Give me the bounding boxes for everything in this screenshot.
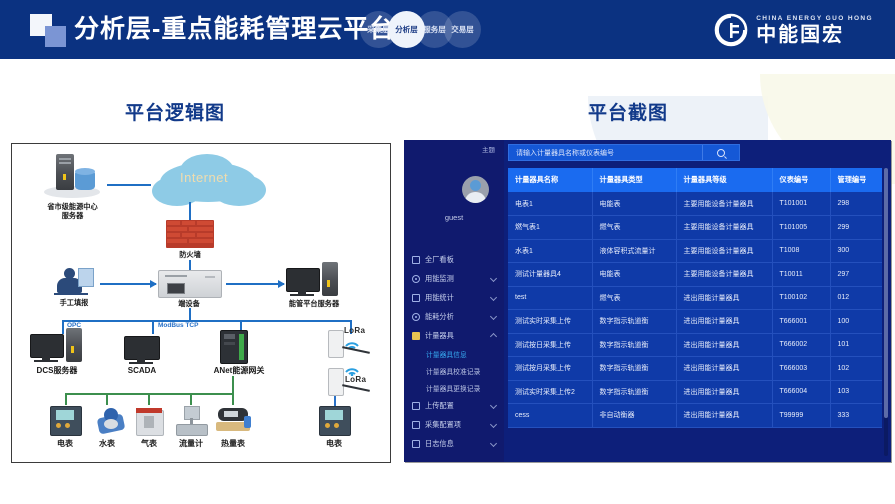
table-cell: 进出用能计量器具 [676, 404, 772, 428]
layer-chip-label: 交易层 [451, 24, 474, 35]
sidebar-item-label: 计量器具 [425, 331, 454, 341]
square-blue [45, 26, 66, 47]
table-row[interactable]: 测试实时采集上传2数字指示轨道衡进出用能计量器具T666004103 [508, 380, 882, 404]
username-label: guest [404, 213, 504, 222]
analysis-icon [412, 313, 420, 321]
company-logo: CHINA ENERGY GUO HONG 中能国宏 [713, 11, 873, 49]
green-drop-1 [65, 393, 67, 405]
meter-label-4: 热量表 [216, 439, 250, 448]
table-row[interactable]: 测试按月采集上传数字指示轨道衡进出用能计量器具T666003102 [508, 357, 882, 381]
table-cell: 测试按月采集上传 [508, 357, 592, 381]
manual-entry-label: 手工填报 [52, 298, 96, 307]
green-drop-2 [106, 393, 108, 405]
table-cell: 电表1 [508, 192, 592, 216]
table-cell: 数字指示轨道衡 [592, 310, 676, 334]
meter-label-lora: 电表 [317, 439, 351, 448]
arrow-manual-to-edge [100, 283, 156, 285]
section-title-right: 平台截图 [588, 98, 668, 125]
column-header-manage-no[interactable]: 管理编号 [830, 168, 882, 192]
table-header-row: 计量器具名称 计量器具类型 计量器具等级 仪表编号 管理编号 [508, 168, 882, 192]
sidebar-subitem-replacement-records[interactable]: 计量器具更换记录 [404, 379, 504, 396]
table-cell: 主要用能设备计量器具 [676, 263, 772, 287]
theme-switch[interactable]: 主题 [482, 144, 495, 154]
chevron-down-icon [490, 440, 497, 447]
layer-chip-trade[interactable]: 交易层 [444, 11, 481, 48]
table-cell: 测试实时采集上传2 [508, 380, 592, 404]
header-logo-squares [30, 14, 70, 48]
table-cell: T10011 [772, 263, 830, 287]
sidebar-item-label: 用能监测 [425, 274, 454, 284]
statistics-icon [412, 294, 420, 302]
meter-label-2: 气表 [132, 439, 166, 448]
metering-devices-table: 计量器具名称 计量器具类型 计量器具等级 仪表编号 管理编号 电表1电能表主要用… [508, 168, 882, 428]
upload-config-icon [412, 402, 420, 410]
table-cell: 100 [830, 310, 882, 334]
table-cell: T666002 [772, 333, 830, 357]
column-header-grade[interactable]: 计量器具等级 [676, 168, 772, 192]
green-drop-5 [232, 393, 234, 405]
monitor-icon [412, 275, 420, 283]
scrollbar-thumb[interactable] [884, 168, 888, 418]
chevron-down-icon [490, 294, 497, 301]
chevron-up-icon [490, 333, 497, 340]
table-cell: 297 [830, 263, 882, 287]
table-cell: test [508, 286, 592, 310]
table-cell: 非自动衡器 [592, 404, 676, 428]
sidebar-item-label: 上传配置 [425, 401, 454, 411]
search-icon [717, 149, 725, 157]
bus-horizontal [62, 320, 352, 322]
table-row[interactable]: 测试计量器具4电能表主要用能设备计量器具T10011297 [508, 263, 882, 287]
sidebar-subitem-label: 计量器具信息 [426, 349, 467, 359]
g-circle-logo-icon [713, 12, 749, 48]
platform-server-label: 能管平台服务器 [278, 299, 350, 308]
green-drop-anet [232, 376, 234, 394]
chevron-down-icon [490, 275, 497, 282]
sidebar-item-log[interactable]: 日志信息 [404, 434, 504, 453]
meter-label-0: 电表 [48, 439, 82, 448]
dcs-label: DCS服务器 [25, 366, 89, 375]
edge-device-icon [158, 270, 222, 298]
sidebar-item-label: 用能统计 [425, 293, 454, 303]
sidebar-item-dashboard[interactable]: 全厂看板 [404, 250, 504, 269]
anet-gateway-icon [220, 330, 248, 364]
meter-label-1: 水表 [90, 439, 124, 448]
table-cell: 燃气表1 [508, 216, 592, 240]
dashboard-icon [412, 256, 420, 264]
table-row[interactable]: 燃气表1燃气表主要用能设备计量器具T101005299 [508, 216, 882, 240]
sidebar-item-label: 日志信息 [425, 439, 454, 449]
table-cell: 测试计量器具4 [508, 263, 592, 287]
table-cell: 主要用能设备计量器具 [676, 192, 772, 216]
sidebar-item-label: 采集配置项 [425, 420, 461, 430]
sidebar-item-upload-config[interactable]: 上传配置 [404, 396, 504, 415]
column-header-type[interactable]: 计量器具类型 [592, 168, 676, 192]
search-input[interactable]: 请输入计量器具名称或仪表编号 [509, 148, 614, 158]
avatar[interactable] [462, 176, 489, 203]
search-bar[interactable]: 请输入计量器具名称或仪表编号 [508, 144, 740, 161]
layer-chip-label: 采集层 [367, 24, 390, 35]
logo-english-text: CHINA ENERGY GUO HONG [756, 15, 873, 22]
platform-screenshot: 主题 guest 全厂看板 用能监测 用能统计 能耗分析 [404, 140, 891, 462]
arrow-edge-to-platform [226, 283, 284, 285]
sidebar-item-collect-config[interactable]: 采集配置项 [404, 415, 504, 434]
table-cell: 数字指示轨道衡 [592, 357, 676, 381]
table-cell: cess [508, 404, 592, 428]
table-cell: 进出用能计量器具 [676, 286, 772, 310]
table-cell: 测试按日采集上传 [508, 333, 592, 357]
table-row[interactable]: cess非自动衡器进出用能计量器具T99999333 [508, 404, 882, 428]
table-cell: 333 [830, 404, 882, 428]
log-icon [412, 440, 420, 448]
table-cell: 测试实时采集上传 [508, 310, 592, 334]
green-drop-3 [148, 393, 150, 405]
table-cell: T666003 [772, 357, 830, 381]
internet-label: Internet [180, 170, 228, 185]
logo-chinese-text: 中能国宏 [756, 24, 873, 46]
column-header-name[interactable]: 计量器具名称 [508, 168, 592, 192]
table-cell: 电能表 [592, 263, 676, 287]
meter-folder-icon [412, 332, 420, 340]
sidebar-item-metering-devices[interactable]: 计量器具 [404, 326, 504, 345]
table-cell: 300 [830, 239, 882, 263]
table-cell: T101005 [772, 216, 830, 240]
table-row[interactable]: 测试按日采集上传数字指示轨道衡进出用能计量器具T666002101 [508, 333, 882, 357]
table-row[interactable]: 水表1液体容积式流量计主要用能设备计量器具T1008300 [508, 239, 882, 263]
chevron-down-icon [490, 421, 497, 428]
bus-drop-scada [152, 320, 154, 334]
table-cell: 数字指示轨道衡 [592, 333, 676, 357]
table-cell: 进出用能计量器具 [676, 357, 772, 381]
link-internet-firewall [189, 202, 191, 220]
sidebar-item-monitor[interactable]: 用能监测 [404, 269, 504, 288]
table-cell: T666001 [772, 310, 830, 334]
column-header-instrument-no[interactable]: 仪表编号 [772, 168, 830, 192]
sidebar-subitem-label: 计量器具更换记录 [426, 383, 480, 393]
avatar-head [470, 180, 481, 191]
bus-drop-dcs [62, 320, 64, 334]
table-cell: 299 [830, 216, 882, 240]
edge-device-label: 端设备 [164, 299, 214, 308]
table-cell: 进出用能计量器具 [676, 380, 772, 404]
table-cell: 电能表 [592, 192, 676, 216]
platform-logic-diagram: Internet 省市级能源中心 服务器 防火墙 [11, 143, 391, 463]
table-cell: T1008 [772, 239, 830, 263]
sidebar-item-label: 全厂看板 [425, 255, 454, 265]
table-cell: 主要用能设备计量器具 [676, 216, 772, 240]
table-cell: T101001 [772, 192, 830, 216]
page-title: 分析层-重点能耗管理云平台 [74, 11, 395, 47]
avatar-body [465, 192, 486, 203]
sidebar-item-analysis[interactable]: 能耗分析 [404, 307, 504, 326]
table-cell: 102 [830, 357, 882, 381]
table-row[interactable]: test燃气表进出用能计量器具T100102012 [508, 286, 882, 310]
table-cell: 进出用能计量器具 [676, 333, 772, 357]
sidebar-menu: 全厂看板 用能监测 用能统计 能耗分析 计量器具 [404, 250, 504, 453]
sidebar-item-statistics[interactable]: 用能统计 [404, 288, 504, 307]
table-cell: 主要用能设备计量器具 [676, 239, 772, 263]
collect-config-icon [412, 421, 420, 429]
table-cell: 进出用能计量器具 [676, 310, 772, 334]
firewall-label: 防火墙 [166, 250, 214, 259]
table-scrollbar[interactable] [884, 168, 888, 456]
table-cell: 燃气表 [592, 286, 676, 310]
layer-chip-label: 服务层 [423, 24, 446, 35]
anet-label: ANet能源网关 [208, 366, 270, 375]
table-cell: 101 [830, 333, 882, 357]
table-body: 电表1电能表主要用能设备计量器具T101001298燃气表1燃气表主要用能设备计… [508, 192, 882, 427]
chevron-down-icon [490, 402, 497, 409]
table-row[interactable]: 电表1电能表主要用能设备计量器具T101001298 [508, 192, 882, 216]
layer-chip-analysis[interactable]: 分析层 [388, 11, 425, 48]
sidebar-subitem-calibration-records[interactable]: 计量器具校准记录 [404, 362, 504, 379]
sidebar-subitem-label: 计量器具校准记录 [426, 366, 480, 376]
lora-label-top: LoRa [344, 326, 365, 335]
app-sidebar: 主题 guest 全厂看板 用能监测 用能统计 能耗分析 [404, 140, 504, 462]
table-row[interactable]: 测试实时采集上传数字指示轨道衡进出用能计量器具T666001100 [508, 310, 882, 334]
sidebar-subitem-device-info[interactable]: 计量器具信息 [404, 345, 504, 362]
table-cell: T666004 [772, 380, 830, 404]
table-cell: 012 [830, 286, 882, 310]
table-cell: 298 [830, 192, 882, 216]
protocol-label-modbus: ModBus TCP [158, 322, 198, 329]
table-cell: 水表1 [508, 239, 592, 263]
table-cell: 燃气表 [592, 216, 676, 240]
green-drop-4 [190, 393, 192, 405]
scada-label: SCADA [122, 366, 162, 375]
app-main: 请输入计量器具名称或仪表编号 计量器具名称 计量器具类型 计量器具等级 仪表编号… [504, 140, 891, 462]
layer-chip-label: 分析层 [395, 24, 418, 35]
search-button[interactable] [702, 145, 739, 160]
link-server-internet [107, 184, 151, 186]
app-header: 分析层-重点能耗管理云平台 采集层 服务层 交易层 分析层 CHINA ENER… [0, 0, 895, 59]
lora-label-bottom: LoRa [345, 375, 366, 384]
table-cell: 液体容积式流量计 [592, 239, 676, 263]
table-cell: 数字指示轨道衡 [592, 380, 676, 404]
table-cell: T99999 [772, 404, 830, 428]
province-server-label: 省市级能源中心 服务器 [35, 202, 110, 220]
meter-label-3: 流量计 [174, 439, 208, 448]
table-cell: T100102 [772, 286, 830, 310]
sidebar-item-label: 能耗分析 [425, 312, 454, 322]
table-cell: 103 [830, 380, 882, 404]
chevron-down-icon [490, 313, 497, 320]
section-title-left: 平台逻辑图 [125, 98, 225, 125]
